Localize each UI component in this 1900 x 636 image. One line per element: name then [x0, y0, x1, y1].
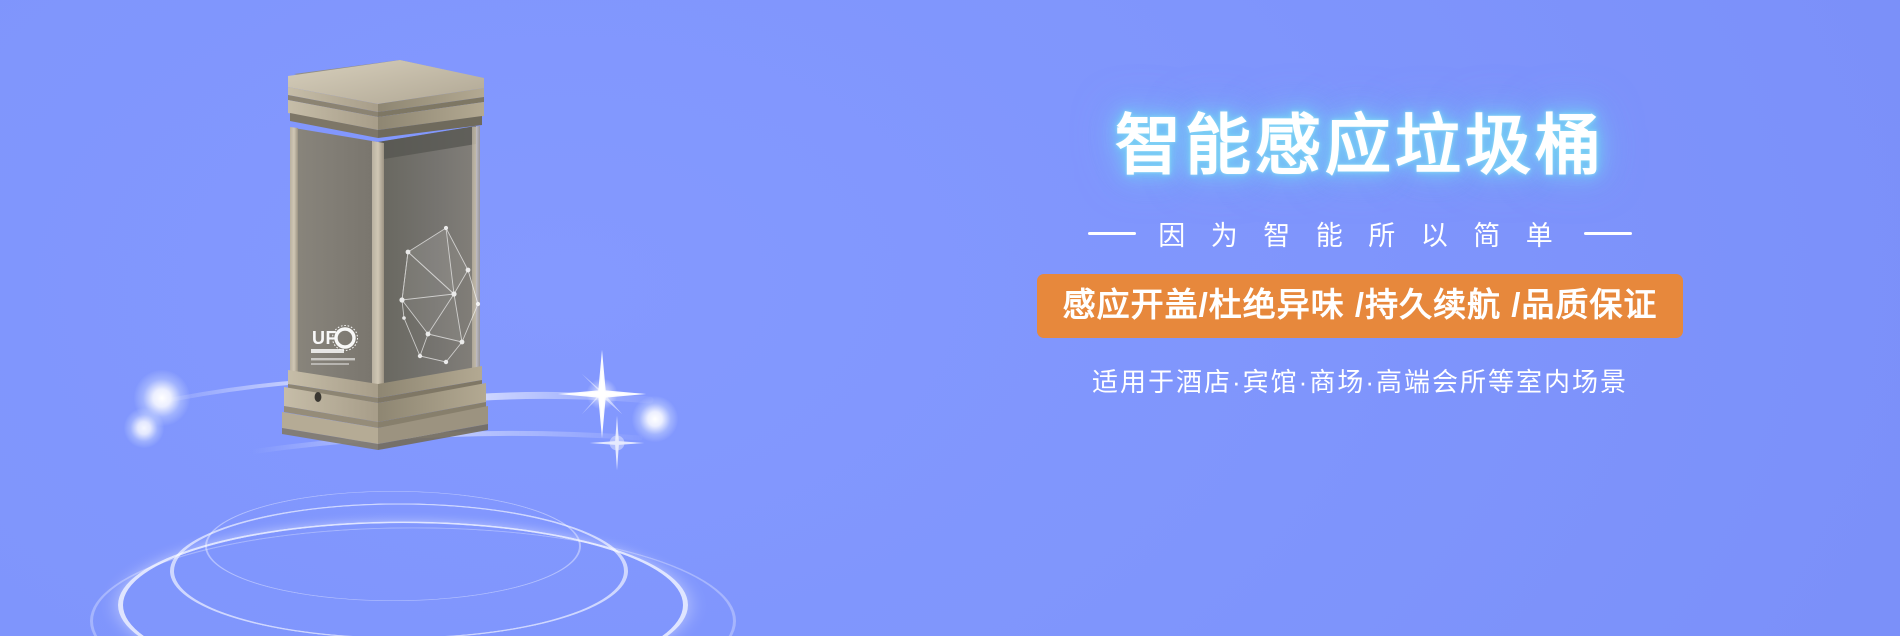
sensor-ripple-ring-1 — [118, 522, 688, 636]
ripple-glow-dot-left-upper — [134, 370, 190, 426]
feature-badge: 感应开盖/杜绝异味 /持久续航 /品质保证 — [860, 274, 1860, 338]
tagline-row: 因 为 智 能 所 以 简 单 — [860, 214, 1860, 253]
tagline-text: 因 为 智 能 所 以 简 单 — [1158, 214, 1562, 253]
svg-text:UF: UF — [312, 328, 337, 348]
marketing-copy-column: 智能感应垃圾桶 因 为 智 能 所 以 简 单 感应开盖/杜绝异味 /持久续航 … — [860, 0, 1900, 636]
sensor-ripple-ring-inner — [205, 491, 581, 601]
promo-banner: UF — [0, 0, 1900, 636]
product-stage: UF — [0, 0, 860, 636]
usage-scenarios-text: 适用于酒店·宾馆·商场·高端会所等室内场景 — [860, 362, 1860, 399]
brand-logo-ufo: UF — [311, 326, 358, 366]
tagline-dash-right — [1584, 232, 1632, 235]
feature-badge-label: 感应开盖/杜绝异味 /持久续航 /品质保证 — [1037, 274, 1684, 338]
tagline-dash-left — [1088, 232, 1136, 235]
sensor-ripple-ring-2 — [170, 503, 628, 636]
ripple-glow-dot-left-lower — [124, 408, 164, 448]
page-title: 智能感应垃圾桶 — [860, 112, 1860, 178]
ripple-glow-dot-right — [632, 396, 678, 442]
sensor-ripple-ring-outer — [90, 527, 736, 636]
star-sparkle-large — [556, 348, 648, 440]
star-sparkle-small — [586, 412, 648, 474]
smart-trash-bin-product-image: UF — [232, 56, 502, 456]
